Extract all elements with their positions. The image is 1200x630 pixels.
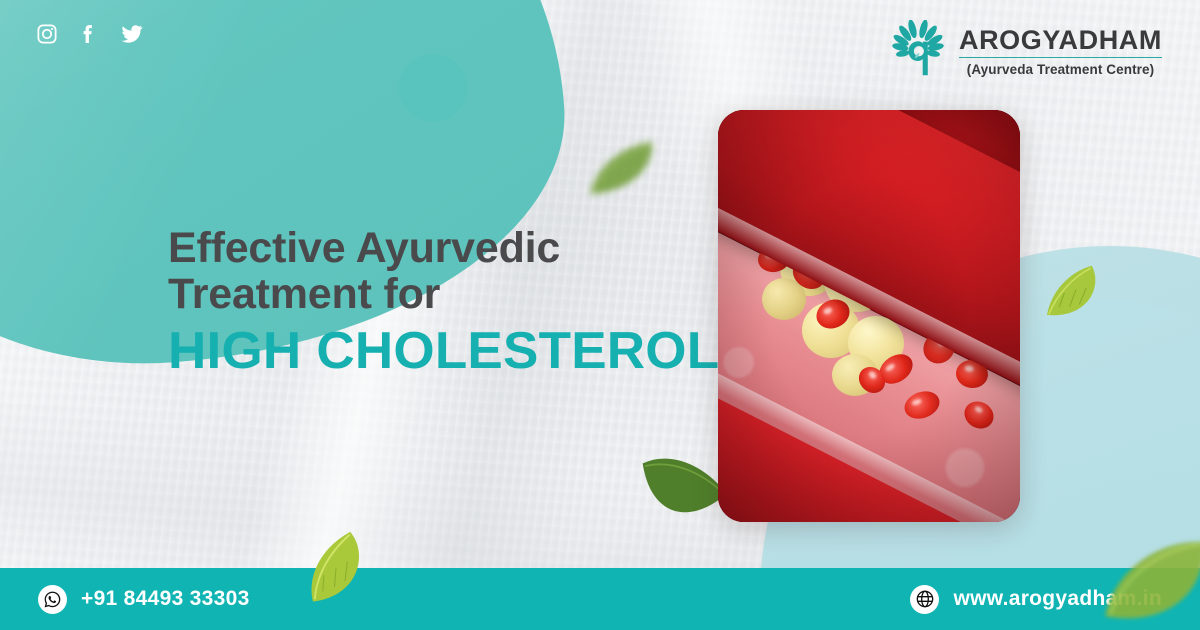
headline-accent: HIGH CHOLESTEROL bbox=[168, 325, 698, 377]
whatsapp-icon[interactable] bbox=[38, 585, 67, 614]
footer-contact-bar: +91 84493 33303 www.arogyadham.in bbox=[0, 568, 1200, 630]
social-links bbox=[36, 22, 144, 51]
headline-block: Effective Ayurvedic Treatment for HIGH C… bbox=[168, 225, 688, 377]
logo-brand-name: AROGYADHAM bbox=[959, 26, 1162, 54]
headline-line-2: Treatment for bbox=[168, 271, 688, 317]
globe-icon[interactable] bbox=[910, 585, 939, 614]
brand-logo[interactable]: AROGYADHAM (Ayurveda Treatment Centre) bbox=[889, 20, 1162, 83]
facebook-icon[interactable] bbox=[78, 22, 100, 51]
promo-banner: AROGYADHAM (Ayurveda Treatment Centre) E… bbox=[0, 0, 1200, 630]
twitter-icon[interactable] bbox=[120, 23, 144, 50]
leaf-top-center bbox=[586, 138, 658, 205]
headline-line-1: Effective Ayurvedic bbox=[168, 225, 688, 271]
hero-image-artery-cholesterol bbox=[718, 110, 1020, 522]
logo-tagline: (Ayurveda Treatment Centre) bbox=[959, 62, 1162, 77]
footer-phone-group[interactable]: +91 84493 33303 bbox=[38, 585, 250, 614]
instagram-icon[interactable] bbox=[36, 23, 58, 50]
teal-dot-shape bbox=[399, 54, 467, 122]
footer-phone-text[interactable]: +91 84493 33303 bbox=[81, 587, 250, 611]
arogyadham-leaf-a-icon bbox=[889, 20, 947, 83]
logo-divider bbox=[959, 57, 1162, 58]
